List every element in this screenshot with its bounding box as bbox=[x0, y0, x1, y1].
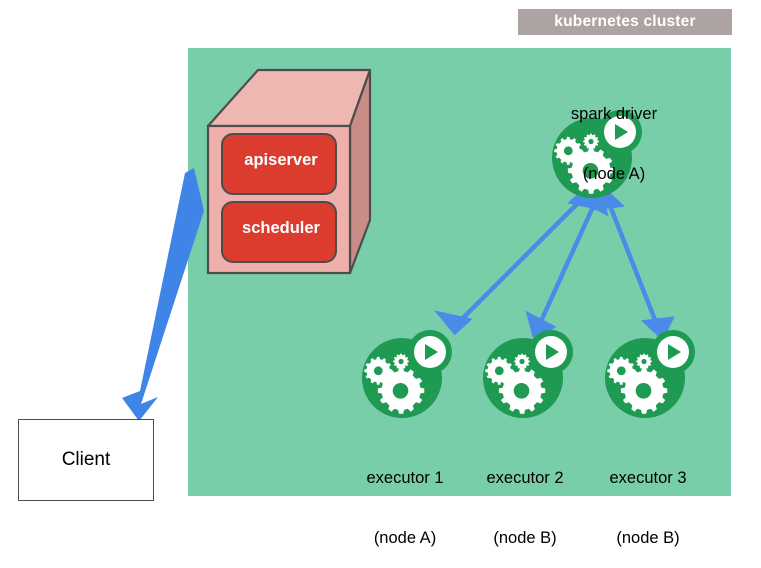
executor-2-label-line2: (node B) bbox=[460, 528, 590, 548]
executor-3-label: executor 3 (node B) bbox=[583, 428, 713, 568]
scheduler-label: scheduler bbox=[221, 219, 341, 238]
executor-1-label-line1: executor 1 bbox=[340, 468, 470, 488]
spark-driver-label-line2: (node A) bbox=[518, 164, 710, 184]
executor-2-label: executor 2 (node B) bbox=[460, 428, 590, 568]
kubernetes-cluster-label: kubernetes cluster bbox=[518, 9, 732, 35]
executor-3-label-line2: (node B) bbox=[583, 528, 713, 548]
control-plane-cube bbox=[208, 70, 370, 273]
client-box[interactable]: Client bbox=[18, 419, 154, 501]
executor-1-label: executor 1 (node A) bbox=[340, 428, 470, 568]
executor-3-label-line1: executor 3 bbox=[583, 468, 713, 488]
executor-2-label-line1: executor 2 bbox=[460, 468, 590, 488]
apiserver-label: apiserver bbox=[221, 151, 341, 170]
spark-driver-label: spark driver (node A) bbox=[518, 64, 710, 204]
executor-1-label-line2: (node A) bbox=[340, 528, 470, 548]
spark-driver-label-line1: spark driver bbox=[518, 104, 710, 124]
